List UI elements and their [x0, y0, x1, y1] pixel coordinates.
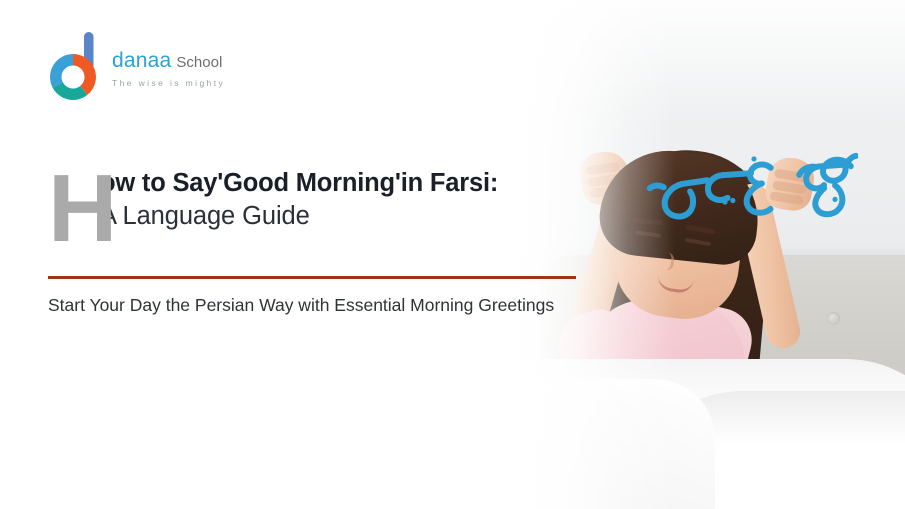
danaa-ring-d-icon	[46, 32, 106, 104]
subtitle-text: Start Your Day the Persian Way with Esse…	[48, 292, 568, 319]
farsi-greeting-script	[618, 140, 863, 237]
headline-block: H ow to Say'Good Morning'in Farsi: A Lan…	[48, 168, 593, 232]
logo-tagline: The wise is mighty	[112, 78, 225, 88]
headline-line-2: A Language Guide	[100, 201, 593, 232]
headline-dropcap: H	[48, 170, 115, 249]
farsi-kha-bar	[723, 173, 751, 175]
farsi-sad-bar	[819, 165, 845, 167]
farsi-ra-curl	[663, 183, 694, 217]
headline-divider	[48, 276, 576, 279]
farsi-kha-bowl	[745, 183, 770, 214]
ring-blue-segment	[50, 54, 73, 88]
farsi-ya-bowl	[707, 175, 728, 201]
logo-brand-text: danaa	[112, 50, 171, 71]
brand-logo[interactable]: danaaSchool The wise is mighty	[46, 24, 306, 104]
logo-wordmark: danaaSchool The wise is mighty	[112, 50, 225, 88]
headboard-button-icon	[827, 312, 840, 325]
farsi-ra-bar	[681, 180, 707, 184]
logo-suffix-text: School	[176, 54, 222, 71]
farsi-entry	[650, 185, 664, 188]
blog-banner: danaaSchool The wise is mighty H ow to S…	[0, 0, 905, 509]
headline-line-1: ow to Say'Good Morning'in Farsi:	[100, 168, 593, 199]
hero-photo	[505, 0, 905, 509]
farsi-dot	[832, 197, 838, 203]
photo-left-fade	[505, 0, 675, 509]
farsi-dot	[730, 198, 736, 204]
farsi-dot	[751, 156, 757, 162]
